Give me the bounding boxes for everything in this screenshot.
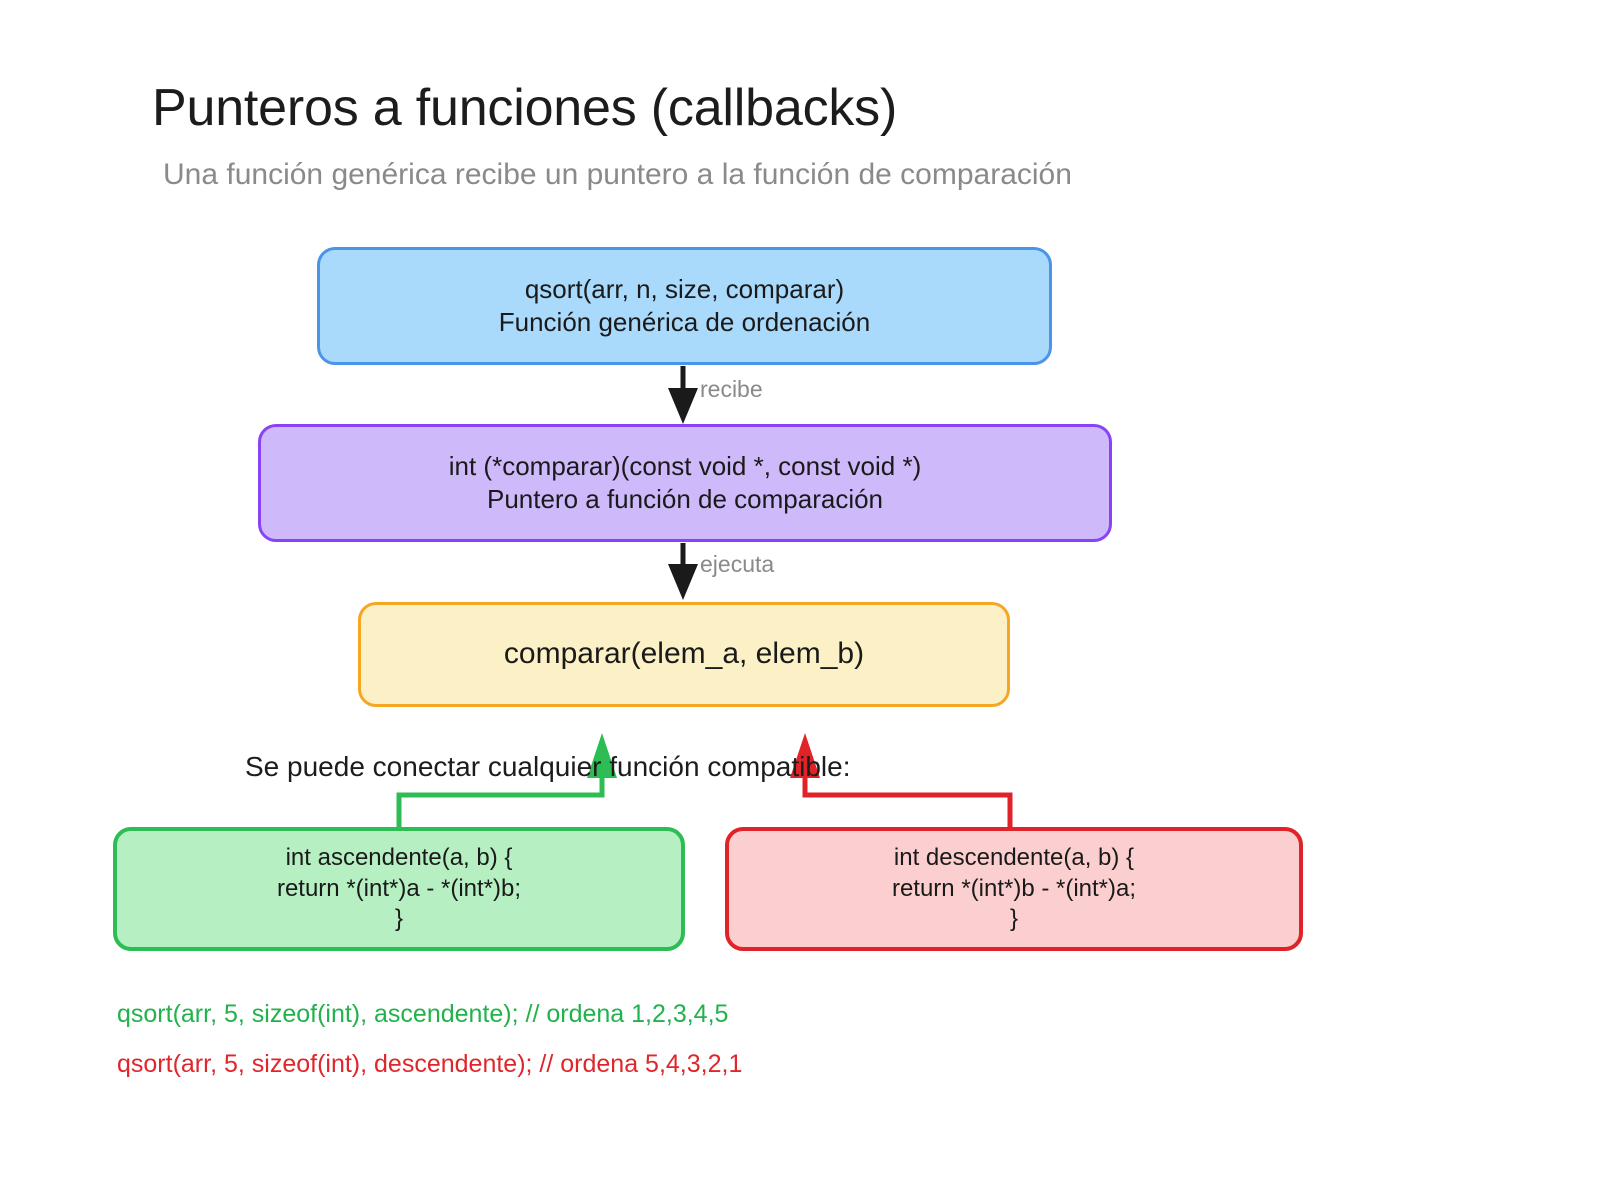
node-descendente-line-3: } <box>1010 904 1018 935</box>
node-ascendente-line-1: int ascendente(a, b) { <box>286 843 513 874</box>
edge-recibe-arrow <box>668 366 698 424</box>
node-qsort-line-2: Función genérica de ordenación <box>499 306 870 339</box>
node-function-pointer-line-1: int (*comparar)(const void *, const void… <box>449 450 922 483</box>
node-qsort[interactable]: qsort(arr, n, size, comparar) Función ge… <box>317 247 1052 365</box>
edge-label-recibe: recibe <box>700 376 763 403</box>
node-qsort-line-1: qsort(arr, n, size, comparar) <box>525 273 844 306</box>
page-title: Punteros a funciones (callbacks) <box>152 78 897 138</box>
example-code-ascendente: qsort(arr, 5, sizeof(int), ascendente); … <box>117 1000 728 1029</box>
node-ascendente-line-2: return *(int*)a - *(int*)b; <box>277 874 521 905</box>
edge-ejecuta-arrow <box>668 543 698 600</box>
node-comparar-line-1: comparar(elem_a, elem_b) <box>504 635 864 673</box>
node-ascendente-line-3: } <box>395 904 403 935</box>
node-function-pointer[interactable]: int (*comparar)(const void *, const void… <box>258 424 1112 542</box>
node-comparar[interactable]: comparar(elem_a, elem_b) <box>358 602 1010 707</box>
node-function-pointer-line-2: Puntero a función de comparación <box>487 483 883 516</box>
page-subtitle: Una función genérica recibe un puntero a… <box>163 158 1072 192</box>
example-code-descendente: qsort(arr, 5, sizeof(int), descendente);… <box>117 1050 742 1079</box>
diagram-canvas: Punteros a funciones (callbacks) Una fun… <box>0 0 1600 1200</box>
node-ascendente[interactable]: int ascendente(a, b) { return *(int*)a -… <box>113 827 685 951</box>
connect-note: Se puede conectar cualquier función comp… <box>245 751 851 783</box>
edge-label-ejecuta: ejecuta <box>700 551 774 578</box>
node-descendente-line-2: return *(int*)b - *(int*)a; <box>892 874 1136 905</box>
node-descendente[interactable]: int descendente(a, b) { return *(int*)b … <box>725 827 1303 951</box>
node-descendente-line-1: int descendente(a, b) { <box>894 843 1134 874</box>
